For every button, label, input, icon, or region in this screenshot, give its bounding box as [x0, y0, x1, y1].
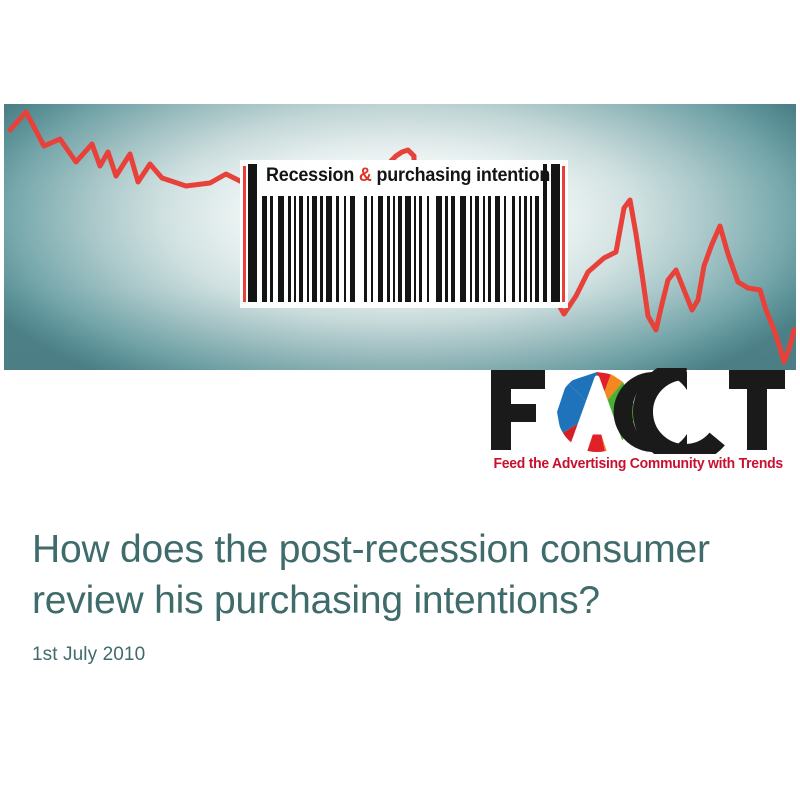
fact-logo: Feed the Advertising Community with Tren… — [489, 368, 787, 480]
barcode-title-prefix: Recession — [266, 164, 359, 186]
page-title-line-2: review his purchasing intentions? — [32, 579, 600, 622]
barcode-right-red-accent — [562, 166, 565, 302]
barcode-left-guard — [248, 164, 257, 302]
logo-letter-f — [491, 370, 545, 450]
logo-letter-c — [614, 368, 745, 454]
headline-block: How does the post-recession consumerrevi… — [32, 524, 762, 666]
barcode-title-ampersand: & — [359, 164, 372, 186]
trend-line-right — [556, 200, 794, 362]
barcode-graphic: Recession & purchasing intention — [240, 160, 568, 308]
fact-logo-mark — [489, 368, 787, 454]
page-title-line-1: How does the post-recession consumer — [32, 528, 710, 571]
barcode-left-red-accent — [243, 166, 246, 302]
publication-date: 1st July 2010 — [32, 644, 762, 666]
logo-tagline: Feed the Advertising Community with Tren… — [493, 456, 782, 472]
banner-image: Recession & purchasing intention — [4, 104, 796, 370]
barcode-right-guard — [551, 164, 560, 302]
page-title: How does the post-recession consumerrevi… — [32, 524, 762, 626]
barcode-title-suffix: purchasing intention — [372, 164, 551, 186]
barcode-title-text: Recession & purchasing intention — [266, 164, 522, 187]
logo-letter-t — [729, 370, 785, 450]
